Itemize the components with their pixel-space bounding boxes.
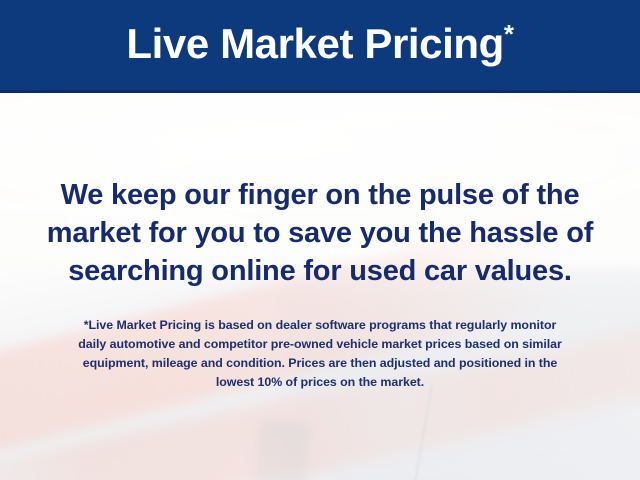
page-title-footnote-marker: * xyxy=(504,19,514,49)
headline-line-3: searching online for used car values. xyxy=(0,252,640,290)
headline-line-1: We keep our finger on the pulse of the xyxy=(0,176,640,214)
headline-line-2: market for you to save you the hassle of xyxy=(0,214,640,252)
title-band: Live Market Pricing* xyxy=(0,0,640,93)
disclaimer-line-3: equipment, mileage and condition. Prices… xyxy=(0,354,640,373)
live-market-pricing-banner: Live Market Pricing* We keep our finger … xyxy=(0,0,640,480)
page-title: Live Market Pricing* xyxy=(126,23,513,67)
headline: We keep our finger on the pulse of the m… xyxy=(0,176,640,290)
page-title-text: Live Market Pricing xyxy=(126,20,504,67)
disclaimer-line-1: *Live Market Pricing is based on dealer … xyxy=(0,316,640,335)
disclaimer-line-4: lowest 10% of prices on the market. xyxy=(0,373,640,392)
disclaimer-line-2: daily automotive and competitor pre-owne… xyxy=(0,335,640,354)
disclaimer: *Live Market Pricing is based on dealer … xyxy=(0,316,640,392)
